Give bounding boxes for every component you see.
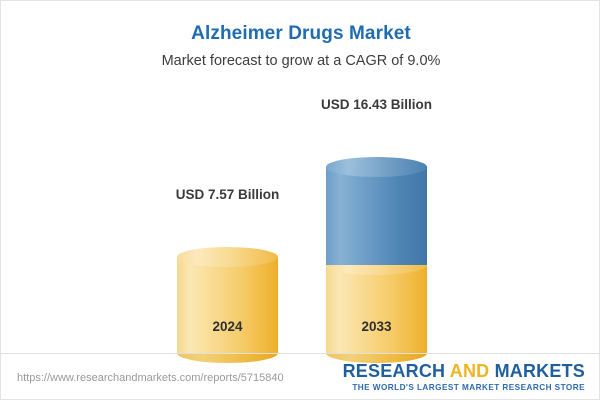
bar-2033-segment-base [326,265,427,353]
category-label-2024: 2024 [177,319,278,334]
cylinder-body [326,167,427,265]
value-label-2033: USD 16.43 Billion [266,97,487,112]
brand-word-and: AND [450,361,490,381]
chart-card: Alzheimer Drugs Market Market forecast t… [0,0,600,400]
value-label-2024: USD 7.57 Billion [127,187,328,202]
brand-word-markets: MARKETS [495,361,585,381]
bar-2033-segment-growth [326,167,427,265]
source-url[interactable]: https://www.researchandmarkets.com/repor… [17,372,284,384]
category-label-2033: 2033 [326,319,427,334]
brand-word-research: RESEARCH [343,361,446,381]
cylinder-body [177,257,278,353]
cylinder-top-ellipse [177,247,278,267]
brand-tagline: THE WORLD'S LARGEST MARKET RESEARCH STOR… [343,384,585,392]
brand-logo-wordmark: RESEARCH AND MARKETS [343,362,585,380]
cylinder-body [326,265,427,353]
brand-logo[interactable]: RESEARCH AND MARKETS THE WORLD'S LARGEST… [343,362,585,392]
plot-area: USD 7.57 Billion 2024 USD 16.43 Billion … [1,1,600,353]
cylinder-top-ellipse [326,157,427,177]
bar-2033[interactable] [326,45,427,353]
footer-divider [1,353,600,354]
bar-2024-segment-base [177,257,278,353]
